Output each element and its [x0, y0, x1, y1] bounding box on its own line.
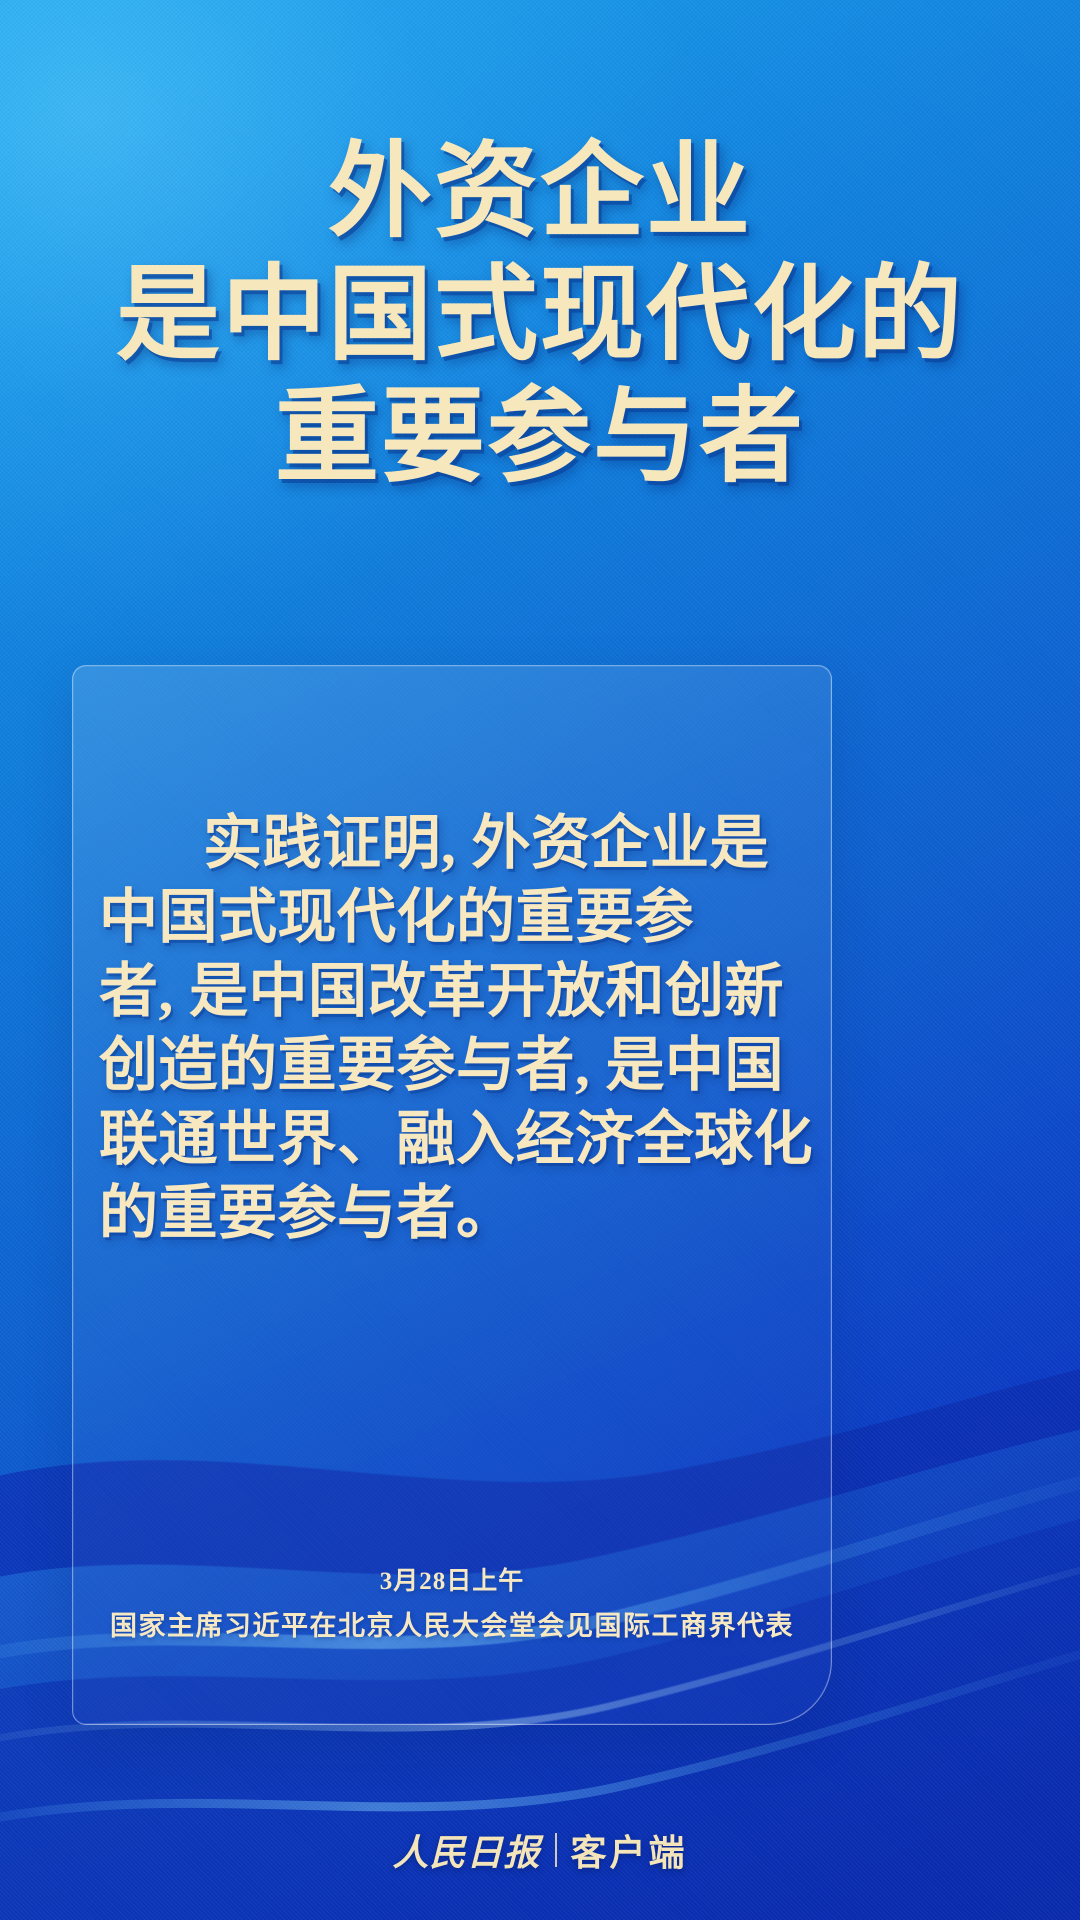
quote-line-2: 中国式现代化的重要参 [99, 880, 809, 954]
headline: 外资企业 是中国式现代化的 重要参与者 [0, 132, 1080, 500]
caption-date: 3月28日上午 [73, 1563, 831, 1601]
quote-line-4: 创造的重要参与者, 是中国 [99, 1028, 809, 1102]
poster-root: 外资企业 是中国式现代化的 重要参与者 实践证明, 外资企业是 中国式现代化的重… [0, 0, 1080, 1920]
footer-product-name: 客户端 [571, 1824, 688, 1876]
caption-block: 3月28日上午 国家主席习近平在北京人民大会堂会见国际工商界代表 [73, 1563, 831, 1648]
quote-line-3: 者, 是中国改革开放和创新 [99, 954, 809, 1028]
quote-card: 实践证明, 外资企业是 中国式现代化的重要参 者, 是中国改革开放和创新 创造的… [72, 665, 832, 1725]
headline-line-3: 重要参与者 [0, 377, 1080, 500]
headline-line-2: 是中国式现代化的 [0, 255, 1080, 378]
logo-divider [555, 1833, 557, 1867]
quote-line-6: 的重要参与者。 [99, 1176, 809, 1250]
quote-text: 实践证明, 外资企业是 中国式现代化的重要参 者, 是中国改革开放和创新 创造的… [99, 806, 809, 1250]
caption-description: 国家主席习近平在北京人民大会堂会见国际工商界代表 [73, 1605, 831, 1648]
quote-line-1: 实践证明, 外资企业是 [99, 806, 809, 880]
quote-line-5: 联通世界、融入经济全球化 [99, 1102, 809, 1176]
headline-line-1: 外资企业 [0, 132, 1080, 255]
peoples-daily-logo: 人民日报 [392, 1824, 540, 1876]
footer-brand: 人民日报 客户端 [0, 1824, 1080, 1876]
